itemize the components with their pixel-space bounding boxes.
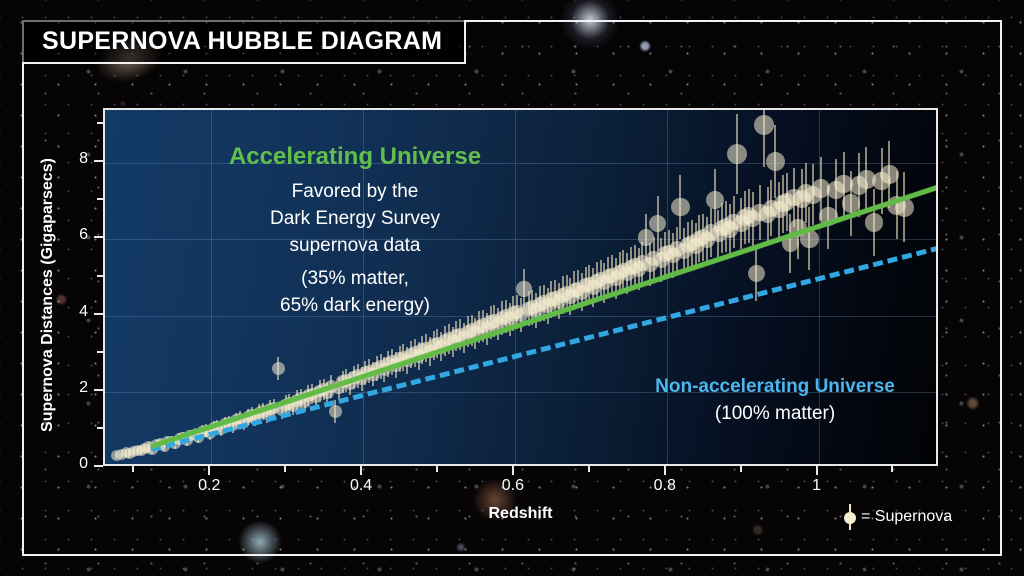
y-tick-label: 4	[48, 303, 88, 321]
y-tick-minor	[97, 198, 103, 200]
x-tick-minor	[740, 466, 742, 472]
supernova-point	[748, 265, 765, 282]
nonaccelerating-universe-description: (100% matter)	[605, 403, 938, 425]
y-tick-label: 0	[48, 455, 88, 473]
y-tick-major	[94, 389, 103, 391]
x-tick-major	[816, 466, 818, 475]
y-tick-major	[94, 160, 103, 162]
supernova-point	[727, 144, 747, 164]
x-tick-major	[512, 466, 514, 475]
title-box: SUPERNOVA HUBBLE DIAGRAM	[22, 20, 466, 64]
y-tick-minor	[97, 122, 103, 124]
y-tick-major	[94, 313, 103, 315]
x-tick-label: 0.4	[331, 477, 391, 495]
x-tick-major	[360, 466, 362, 475]
y-tick-label: 6	[48, 226, 88, 244]
y-tick-minor	[97, 427, 103, 429]
x-tick-major	[664, 466, 666, 475]
x-tick-major	[208, 466, 210, 475]
supernova-point	[649, 215, 666, 232]
accelerating-universe-label: Accelerating Universe	[175, 143, 535, 171]
x-tick-minor	[588, 466, 590, 472]
supernova-point	[865, 213, 884, 232]
plot-area: Accelerating UniverseFavored by theDark …	[103, 108, 938, 466]
y-tick-label: 2	[48, 379, 88, 397]
supernova-point	[766, 152, 786, 172]
y-tick-major	[94, 236, 103, 238]
x-tick-label: 0.2	[179, 477, 239, 495]
nonaccelerating-universe-label: Non-accelerating Universe	[605, 376, 938, 398]
hubble-diagram-figure: Supernova Distances (Gigaparsecs) Redshi…	[0, 0, 1024, 576]
supernova-point-with-errorbar-icon	[842, 504, 858, 530]
supernova-point	[272, 362, 285, 375]
blue-star-icon	[238, 520, 282, 564]
legend: = Supernova	[842, 504, 952, 530]
page-title: SUPERNOVA HUBBLE DIAGRAM	[42, 27, 442, 56]
y-tick-minor	[97, 351, 103, 353]
x-tick-label: 0.6	[483, 477, 543, 495]
plot-canvas: Accelerating UniverseFavored by theDark …	[105, 110, 936, 464]
x-tick-minor	[891, 466, 893, 472]
supernova-point	[754, 115, 774, 135]
accelerating-universe-description: Favored by theDark Energy Surveysupernov…	[185, 178, 525, 259]
y-tick-minor	[97, 275, 103, 277]
accelerating-universe-parameters: (35% matter,65% dark energy)	[185, 265, 525, 319]
supernova-point	[671, 198, 690, 217]
x-tick-label: 0.8	[635, 477, 695, 495]
x-axis-title: Redshift	[103, 505, 938, 523]
y-tick-label: 8	[48, 150, 88, 168]
x-tick-minor	[436, 466, 438, 472]
legend-label: = Supernova	[861, 508, 952, 526]
x-tick-minor	[284, 466, 286, 472]
x-tick-label: 1	[787, 477, 847, 495]
y-tick-major	[94, 465, 103, 467]
x-tick-minor	[132, 466, 134, 472]
supernova-point	[329, 405, 342, 418]
